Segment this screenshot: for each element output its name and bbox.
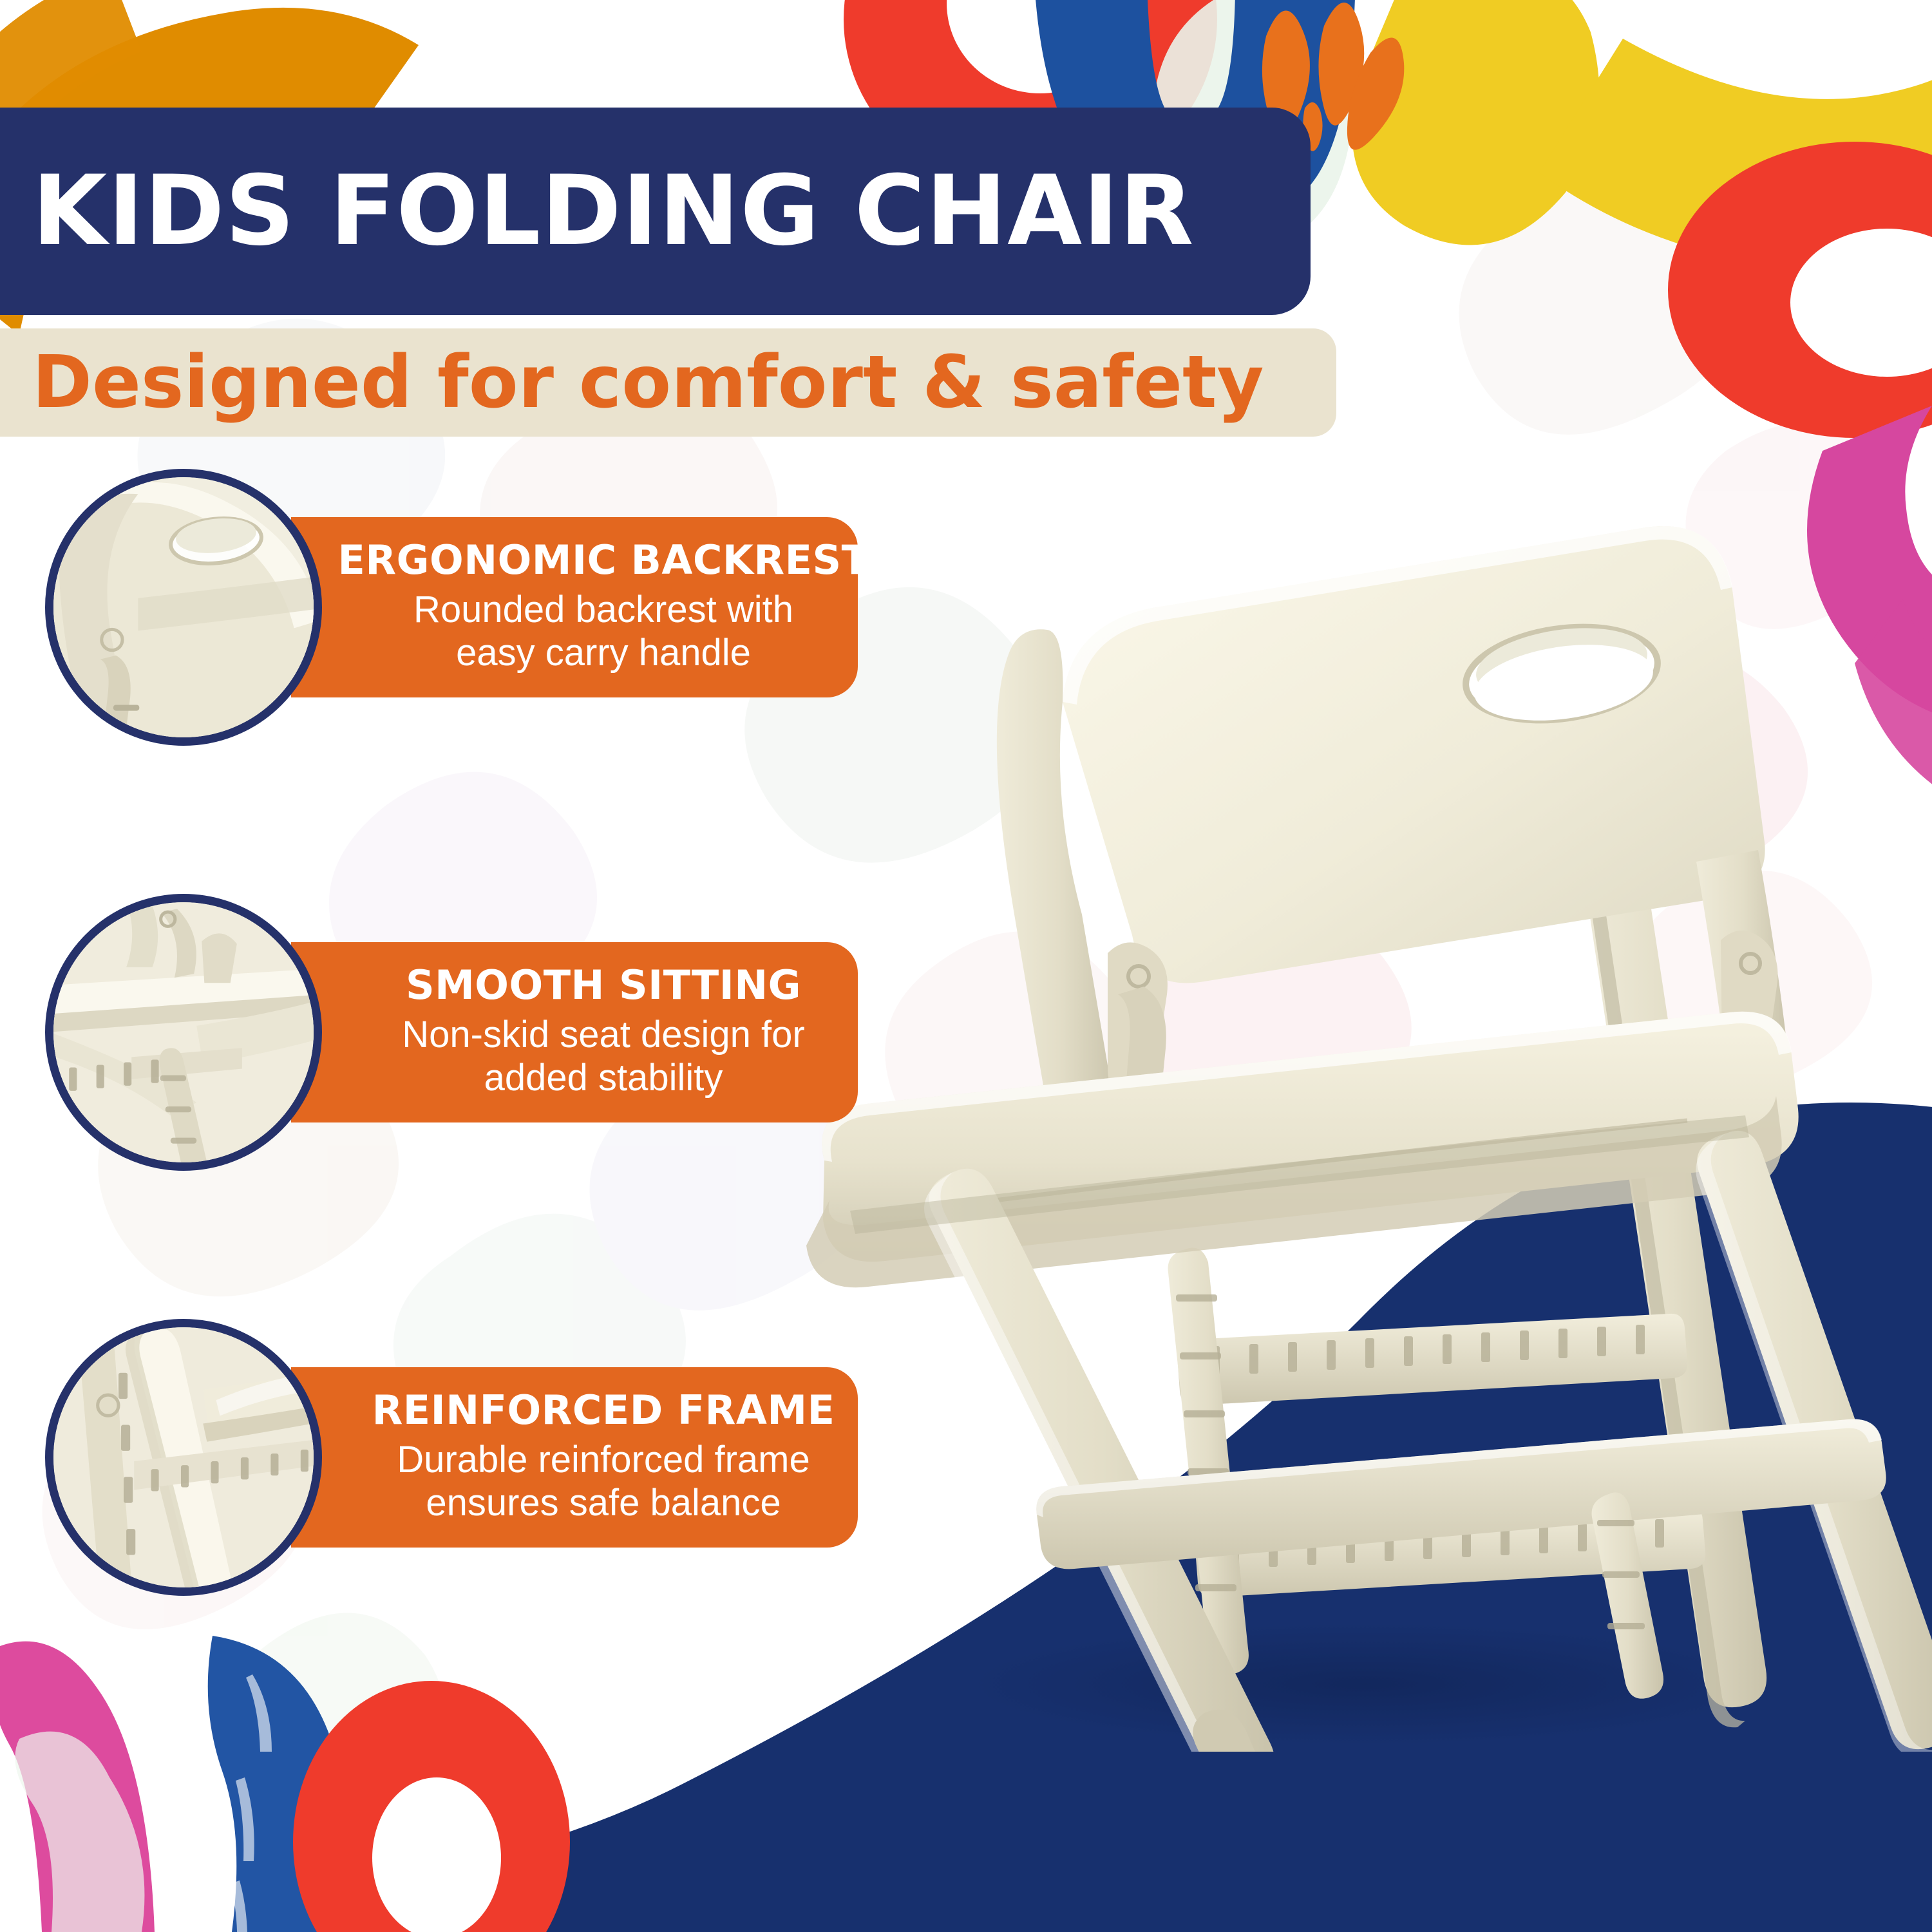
callout-smooth-sitting: SMOOTH SITTING Non-skid seat design for … xyxy=(291,942,858,1122)
blue-brush-bottom-left xyxy=(208,1636,349,1932)
page-subtitle: Designed for comfort & safety xyxy=(32,346,1264,419)
thumbnail-frame-closeup xyxy=(45,1319,322,1596)
yellow-brush-top xyxy=(1352,0,1599,245)
callout-desc-line2: ensures safe balance xyxy=(426,1482,781,1524)
red-ring-right xyxy=(1668,142,1932,438)
product-image xyxy=(760,489,1932,1752)
feature-row-ergonomic-backrest: ERGONOMIC BACKREST Rounded backrest with… xyxy=(45,469,858,746)
yellow-brush-right xyxy=(1539,39,1932,272)
callout-title: ERGONOMIC BACKREST xyxy=(338,539,869,581)
thumbnail-backrest-closeup xyxy=(45,469,322,746)
subtitle-band: Designed for comfort & safety xyxy=(0,328,1336,437)
callout-ergonomic-backrest: ERGONOMIC BACKREST Rounded backrest with… xyxy=(291,517,858,697)
feature-row-smooth-sitting: SMOOTH SITTING Non-skid seat design for … xyxy=(45,894,858,1171)
callout-title: SMOOTH SITTING xyxy=(406,964,801,1006)
callout-title: REINFORCED FRAME xyxy=(372,1389,835,1431)
pink-brush-bottom-left xyxy=(0,1642,155,1932)
feature-row-reinforced-frame: REINFORCED FRAME Durable reinforced fram… xyxy=(45,1319,858,1596)
thumbnail-seat-closeup xyxy=(45,894,322,1171)
callout-desc-line1: Durable reinforced frame xyxy=(397,1439,810,1481)
callout-desc-line1: Rounded backrest with xyxy=(413,589,793,631)
red-ring-bottom-left xyxy=(293,1681,570,1932)
title-banner: KIDS FOLDING CHAIR xyxy=(0,108,1311,315)
callout-reinforced-frame: REINFORCED FRAME Durable reinforced fram… xyxy=(291,1367,858,1547)
callout-desc-line2: easy carry handle xyxy=(456,632,751,674)
infographic-canvas: KIDS FOLDING CHAIR Designed for comfort … xyxy=(0,0,1932,1932)
callout-desc-line2: added stability xyxy=(484,1057,723,1099)
page-title: KIDS FOLDING CHAIR xyxy=(32,163,1195,260)
callout-desc-line1: Non-skid seat design for xyxy=(402,1014,804,1056)
